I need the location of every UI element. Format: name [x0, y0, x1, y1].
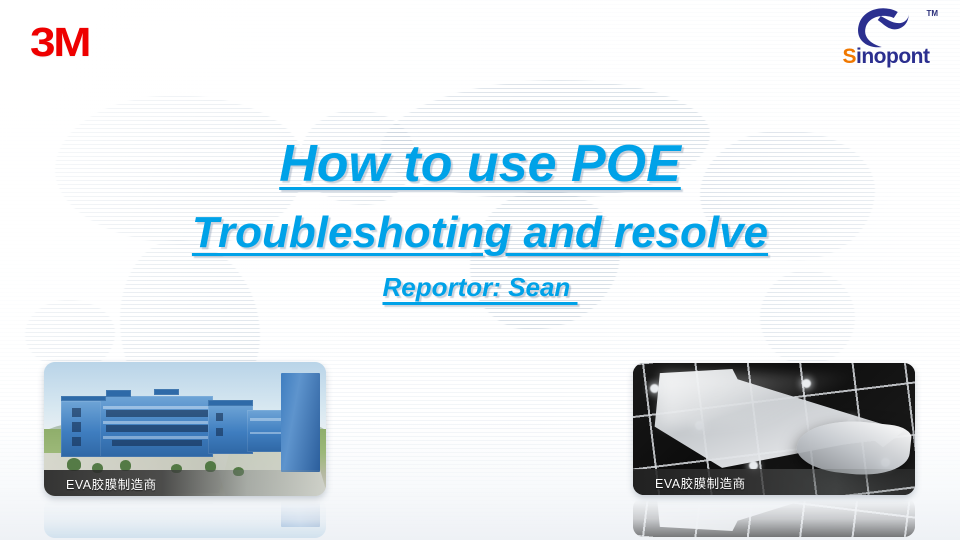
photo-caption: EVA胶膜制造商 [633, 469, 915, 495]
photo-card-eva-film: EVA胶膜制造商 EVA胶膜制造商 [633, 363, 915, 537]
sinopont-wordmark: Sinopont [830, 46, 942, 68]
sinopont-wordmark-initial: S [843, 45, 857, 68]
sinopont-logo: TM Sinopont [830, 6, 942, 78]
photo-card-factory-building: EVA胶膜制造商 EVA胶膜制造商 [44, 362, 326, 538]
photo-eva-film-solar: EVA胶膜制造商 [633, 363, 915, 495]
slide-title-line-1: How to use POE [279, 134, 681, 194]
trademark-symbol: TM [926, 9, 938, 18]
presentation-slide: 3M TM Sinopont How to use POE Troublesho… [0, 0, 960, 540]
sinopont-wordmark-rest: inopont [856, 45, 929, 68]
3m-logo: 3M [30, 22, 89, 63]
slide-presenter-line: Reportor: Sean [382, 270, 577, 304]
photo-factory-building: EVA胶膜制造商 [44, 362, 326, 496]
photo-reflection: EVA胶膜制造商 [44, 498, 326, 538]
sinopont-swoosh-icon: TM [830, 6, 942, 50]
slide-title-line-2: Troubleshoting and resolve [192, 206, 768, 260]
title-block: How to use POE Troubleshoting and resolv… [0, 132, 960, 304]
photo-reflection: EVA胶膜制造商 [633, 497, 915, 537]
photo-caption: EVA胶膜制造商 [44, 470, 326, 496]
